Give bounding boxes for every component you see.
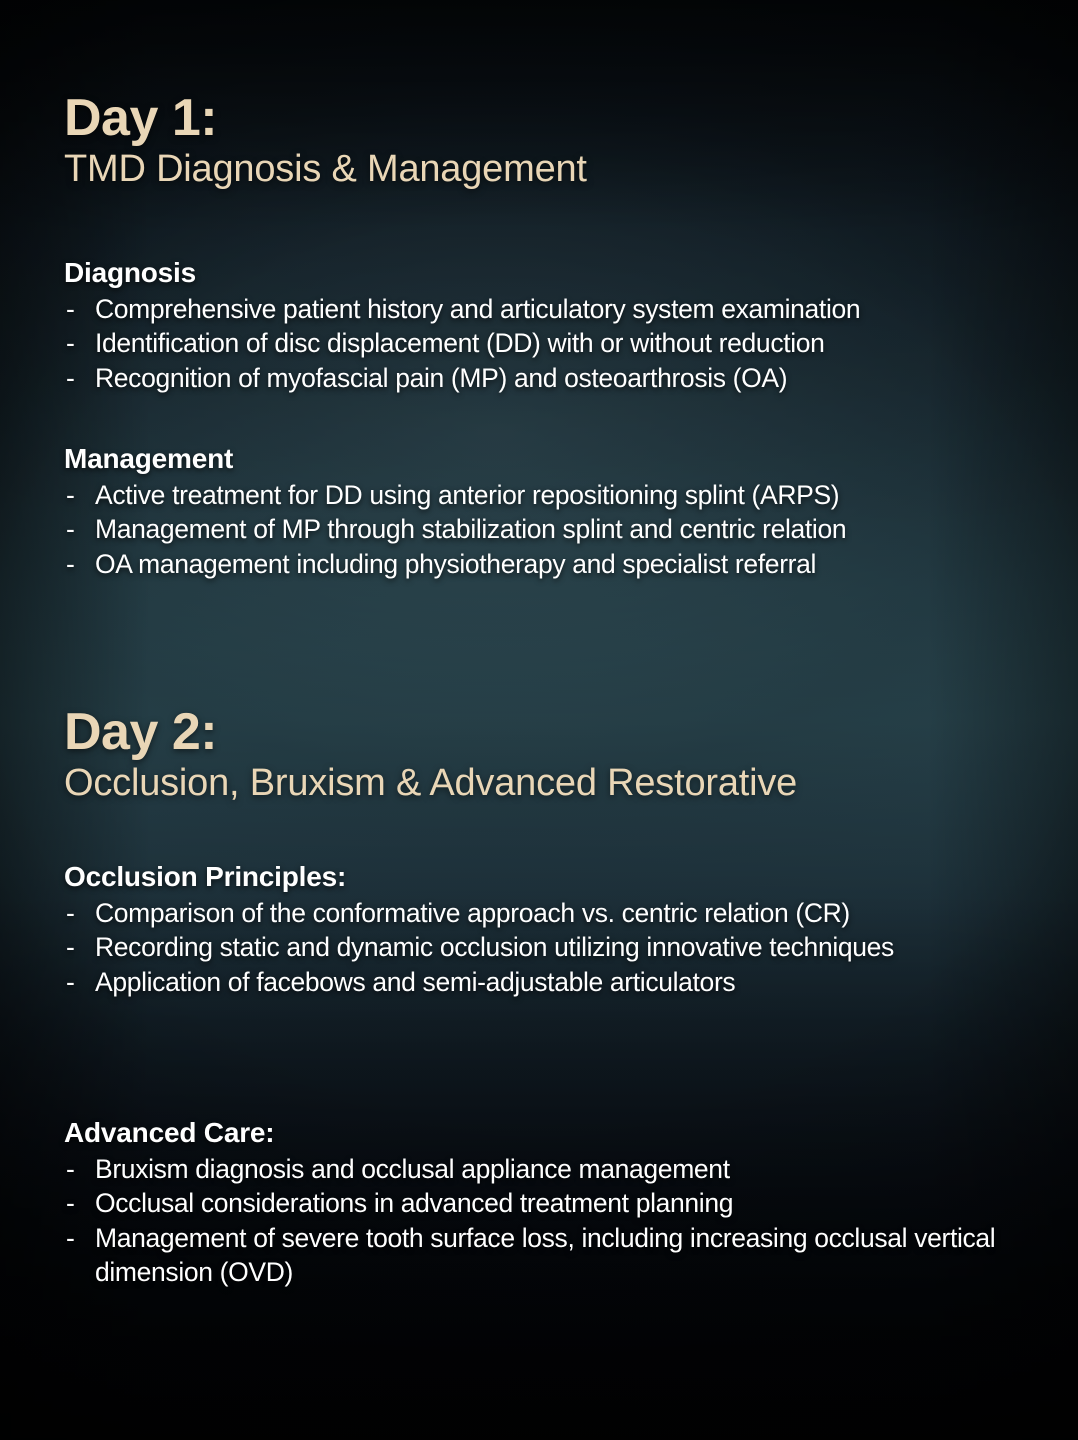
list-item-text: Recognition of myofascial pain (MP) and …: [95, 363, 787, 393]
list-item: -Application of facebows and semi-adjust…: [64, 965, 894, 999]
list-item-text: Identification of disc displacement (DD)…: [95, 328, 825, 358]
bullet-dash: -: [66, 1221, 74, 1255]
list-item-text: Comprehensive patient history and articu…: [95, 294, 860, 324]
list-item: -Comprehensive patient history and artic…: [64, 292, 860, 326]
bullet-dash: -: [66, 326, 74, 360]
list-item: -Management of severe tooth surface loss…: [64, 1221, 1014, 1290]
day-2-title-block: Day 2: Occlusion, Bruxism & Advanced Res…: [64, 706, 797, 806]
section-heading-occlusion-principles: Occlusion Principles:: [64, 862, 894, 893]
list-item: -Identification of disc displacement (DD…: [64, 326, 860, 360]
list-item: -Bruxism diagnosis and occlusal applianc…: [64, 1152, 1014, 1186]
list-item-text: Management of MP through stabilization s…: [95, 514, 846, 544]
management-bullet-list: -Active treatment for DD using anterior …: [64, 478, 846, 581]
list-item: -Active treatment for DD using anterior …: [64, 478, 846, 512]
slide-canvas: Day 1: TMD Diagnosis & Management Diagno…: [0, 0, 1078, 1440]
slide-content: Day 1: TMD Diagnosis & Management Diagno…: [0, 0, 1078, 1440]
list-item-text: Comparison of the conformative approach …: [95, 898, 850, 928]
list-item-text: Application of facebows and semi-adjusta…: [95, 967, 735, 997]
day-1-section-management: Management -Active treatment for DD usin…: [64, 444, 846, 581]
day-1-number: Day 1:: [64, 92, 587, 145]
day-1-title-block: Day 1: TMD Diagnosis & Management: [64, 92, 587, 192]
bullet-dash: -: [66, 292, 74, 326]
bullet-dash: -: [66, 1186, 74, 1220]
bullet-dash: -: [66, 965, 74, 999]
section-heading-diagnosis: Diagnosis: [64, 258, 860, 289]
list-item-text: OA management including physiotherapy an…: [95, 549, 816, 579]
list-item: -Recognition of myofascial pain (MP) and…: [64, 361, 860, 395]
bullet-dash: -: [66, 361, 74, 395]
list-item-text: Active treatment for DD using anterior r…: [95, 480, 839, 510]
advanced-care-bullet-list: -Bruxism diagnosis and occlusal applianc…: [64, 1152, 1014, 1290]
list-item: -OA management including physiotherapy a…: [64, 547, 846, 581]
list-item-text: Bruxism diagnosis and occlusal appliance…: [95, 1154, 730, 1184]
occlusion-principles-bullet-list: -Comparison of the conformative approach…: [64, 896, 894, 999]
bullet-dash: -: [66, 1152, 74, 1186]
day-2-section-occlusion-principles: Occlusion Principles: -Comparison of the…: [64, 862, 894, 999]
day-2-section-advanced-care: Advanced Care: -Bruxism diagnosis and oc…: [64, 1118, 1014, 1290]
day-1-subtitle: TMD Diagnosis & Management: [64, 147, 587, 192]
bullet-dash: -: [66, 547, 74, 581]
diagnosis-bullet-list: -Comprehensive patient history and artic…: [64, 292, 860, 395]
list-item: -Comparison of the conformative approach…: [64, 896, 894, 930]
list-item-text: Recording static and dynamic occlusion u…: [95, 932, 894, 962]
list-item-text: Occlusal considerations in advanced trea…: [95, 1188, 733, 1218]
bullet-dash: -: [66, 930, 74, 964]
section-heading-advanced-care: Advanced Care:: [64, 1118, 1014, 1149]
list-item: -Management of MP through stabilization …: [64, 512, 846, 546]
day-2-subtitle: Occlusion, Bruxism & Advanced Restorativ…: [64, 761, 797, 806]
bullet-dash: -: [66, 478, 74, 512]
day-1-section-diagnosis: Diagnosis -Comprehensive patient history…: [64, 258, 860, 395]
list-item-text: Management of severe tooth surface loss,…: [95, 1223, 995, 1287]
section-heading-management: Management: [64, 444, 846, 475]
day-2-number: Day 2:: [64, 706, 797, 759]
list-item: -Recording static and dynamic occlusion …: [64, 930, 894, 964]
bullet-dash: -: [66, 896, 74, 930]
bullet-dash: -: [66, 512, 74, 546]
list-item: -Occlusal considerations in advanced tre…: [64, 1186, 1014, 1220]
